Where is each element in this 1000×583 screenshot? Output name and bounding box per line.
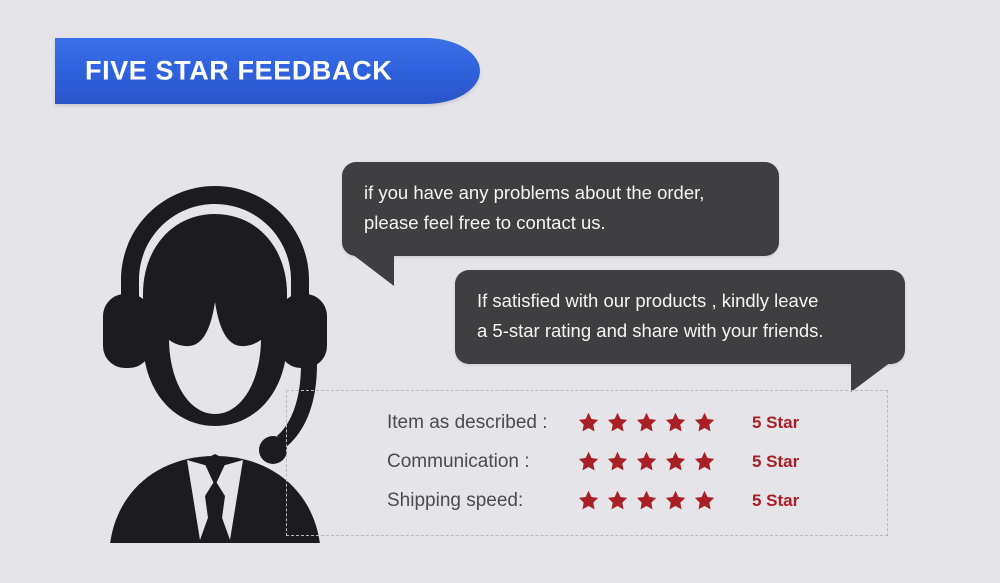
- star-icon: [606, 411, 629, 434]
- star-icon: [693, 411, 716, 434]
- star-icon: [635, 450, 658, 473]
- header-banner: FIVE STAR FEEDBACK: [55, 38, 480, 104]
- rating-value: 5 Star: [752, 413, 799, 433]
- star-icon: [606, 450, 629, 473]
- bubble-line-1: if you have any problems about the order…: [364, 178, 757, 208]
- star-icon: [577, 411, 600, 434]
- ratings-panel: Item as described : 5 Star Communication…: [286, 390, 888, 536]
- bubble-tail-icon: [352, 254, 394, 286]
- star-icon: [635, 411, 658, 434]
- star-icon: [693, 489, 716, 512]
- support-contact-bubble: if you have any problems about the order…: [342, 162, 779, 256]
- bubble-line-2: please feel free to contact us.: [364, 208, 757, 238]
- rating-value: 5 Star: [752, 491, 799, 511]
- star-icon: [664, 450, 687, 473]
- star-icon: [664, 489, 687, 512]
- star-icon: [577, 489, 600, 512]
- bubble-line-1: If satisfied with our products , kindly …: [477, 286, 883, 316]
- ratings-list: Item as described : 5 Star Communication…: [387, 403, 857, 520]
- rating-row: Item as described : 5 Star: [387, 403, 857, 442]
- rating-label: Shipping speed:: [387, 490, 577, 512]
- star-icon: [664, 411, 687, 434]
- star-icon: [693, 450, 716, 473]
- star-icon: [606, 489, 629, 512]
- rating-label: Item as described :: [387, 412, 577, 434]
- rating-value: 5 Star: [752, 452, 799, 472]
- rating-stars: [577, 450, 752, 473]
- rating-stars: [577, 411, 752, 434]
- rating-row: Shipping speed: 5 Star: [387, 481, 857, 520]
- rating-stars: [577, 489, 752, 512]
- rating-row: Communication : 5 Star: [387, 442, 857, 481]
- page-title: FIVE STAR FEEDBACK: [85, 56, 392, 87]
- star-icon: [635, 489, 658, 512]
- rating-request-bubble: If satisfied with our products , kindly …: [455, 270, 905, 364]
- rating-label: Communication :: [387, 451, 577, 473]
- feedback-banner-graphic: FIVE STAR FEEDBACK: [0, 0, 1000, 583]
- bubble-tail-icon: [851, 362, 891, 392]
- bubble-line-2: a 5-star rating and share with your frie…: [477, 316, 883, 346]
- star-icon: [577, 450, 600, 473]
